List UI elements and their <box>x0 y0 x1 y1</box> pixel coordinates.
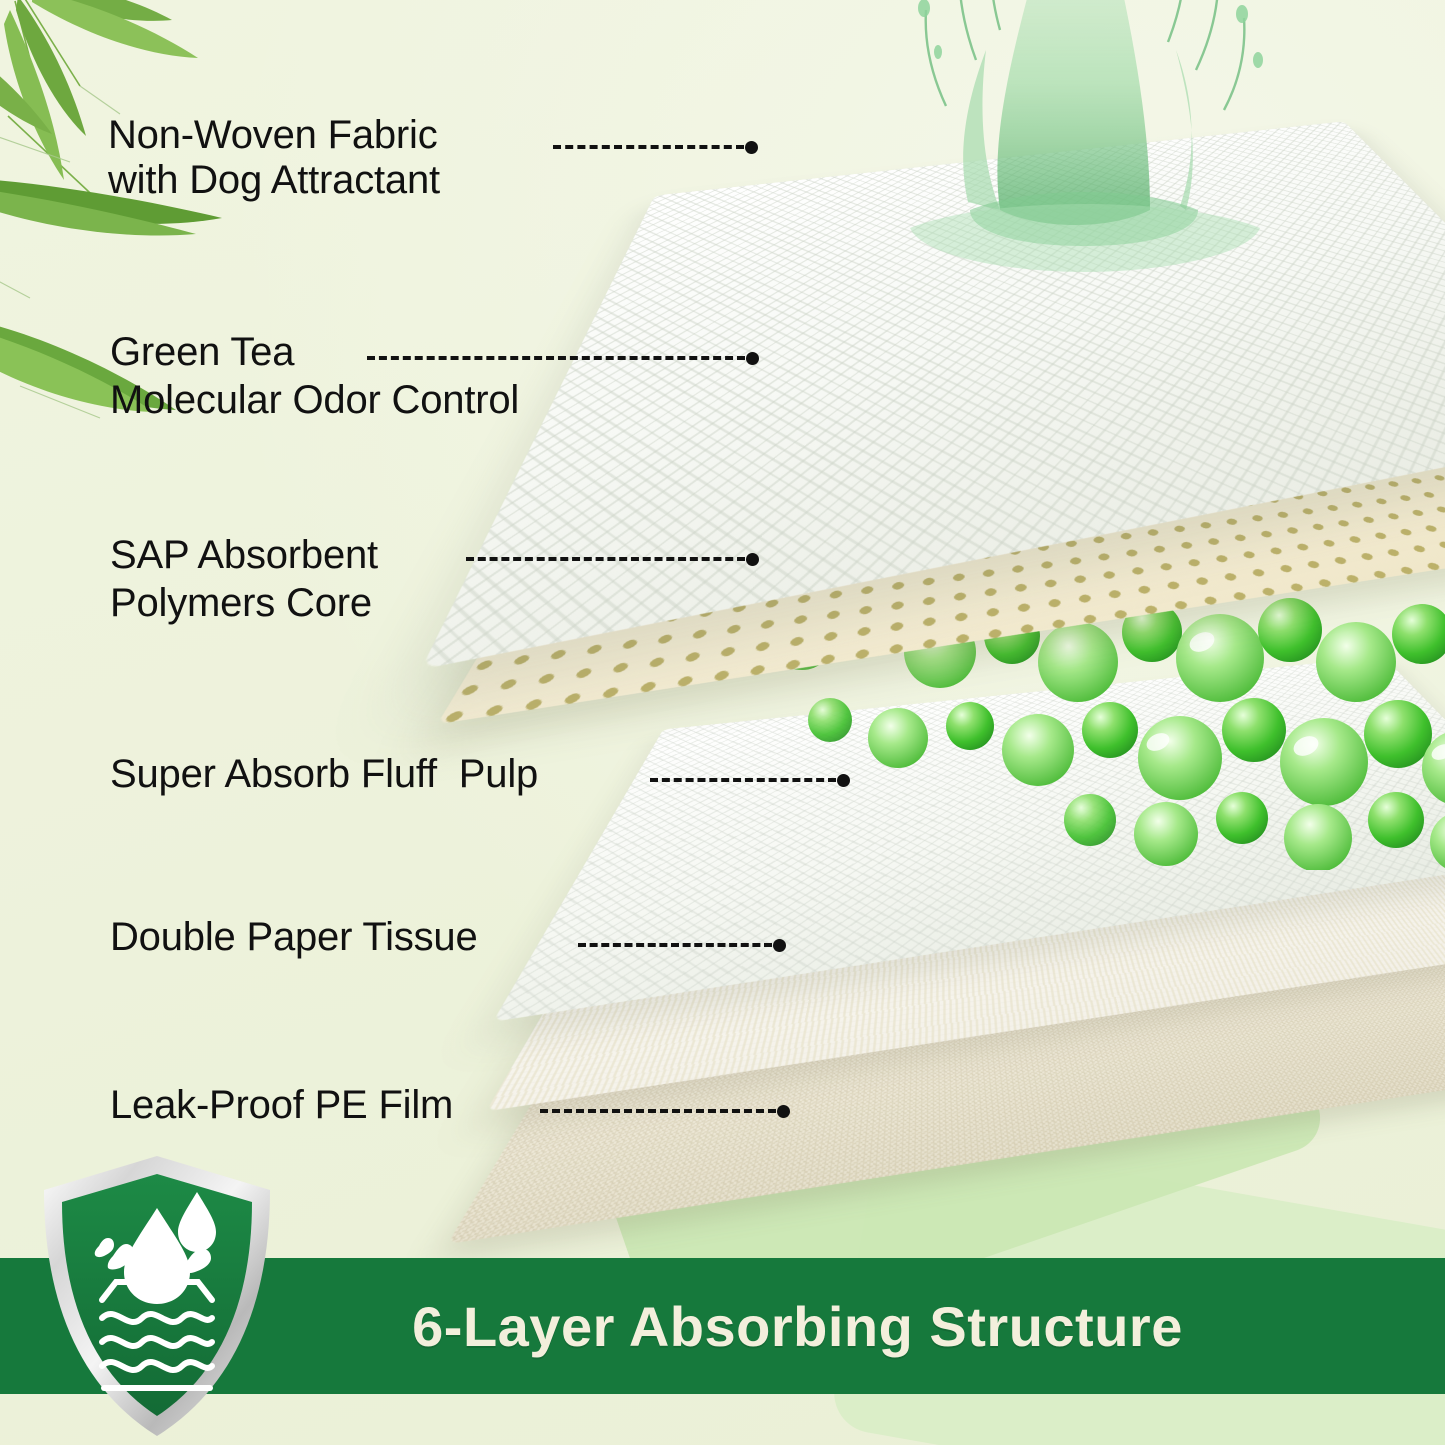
leader-dashes <box>367 356 745 360</box>
callout-label-pe-film: Leak-Proof PE Film <box>110 1083 453 1127</box>
callout-fluff-pulp: Super Absorb Fluff Pulp <box>110 752 538 796</box>
callout-label-fluff-pulp: Super Absorb Fluff Pulp <box>110 752 538 796</box>
leader-dashes <box>553 145 744 149</box>
banner-title: 6-Layer Absorbing Structure <box>412 1294 1183 1359</box>
leader-endpoint-dot <box>746 553 759 566</box>
callout-green-tea-line2: Molecular Odor Control <box>110 378 519 422</box>
callout-sap-absorbent: SAP Absorbent <box>110 533 378 577</box>
leader-line-pe-film <box>540 1106 790 1116</box>
callout-label-sap-absorbent-2: Polymers Core <box>110 581 372 625</box>
callout-label-green-tea-2: Molecular Odor Control <box>110 378 519 422</box>
callout-non-woven-fabric-line2: with Dog Attractant <box>108 158 440 202</box>
leader-dashes <box>540 1109 776 1113</box>
shield-waterdrop-absorption-icon <box>38 1152 276 1440</box>
leader-endpoint-dot <box>746 352 759 365</box>
callout-label-non-woven-fabric: Non-Woven Fabric <box>108 113 438 157</box>
leader-endpoint-dot <box>837 774 850 787</box>
callout-label-sap-absorbent: SAP Absorbent <box>110 533 378 577</box>
leader-line-green-tea <box>367 353 759 363</box>
callout-sap-absorbent-line2: Polymers Core <box>110 581 372 625</box>
leader-endpoint-dot <box>773 939 786 952</box>
leader-dashes <box>650 778 836 782</box>
leader-line-non-woven-fabric <box>553 142 758 152</box>
leader-endpoint-dot <box>777 1105 790 1118</box>
callout-green-tea: Green Tea <box>110 330 294 374</box>
layer-stack-illustration <box>520 0 1445 1230</box>
leader-dashes <box>466 557 745 561</box>
infographic-canvas: Non-Woven Fabric with Dog Attractant Gre… <box>0 0 1445 1445</box>
leader-line-paper-tissue <box>578 940 786 950</box>
callout-non-woven-fabric: Non-Woven Fabric <box>108 113 438 157</box>
callout-pe-film: Leak-Proof PE Film <box>110 1083 453 1127</box>
leader-dashes <box>578 943 772 947</box>
leader-endpoint-dot <box>745 141 758 154</box>
callout-label-paper-tissue: Double Paper Tissue <box>110 915 478 959</box>
callout-paper-tissue: Double Paper Tissue <box>110 915 478 959</box>
callout-label-non-woven-fabric-2: with Dog Attractant <box>108 158 440 202</box>
leader-line-sap-absorbent <box>466 554 759 564</box>
leader-line-fluff-pulp <box>650 775 850 785</box>
callout-label-green-tea: Green Tea <box>110 330 294 374</box>
